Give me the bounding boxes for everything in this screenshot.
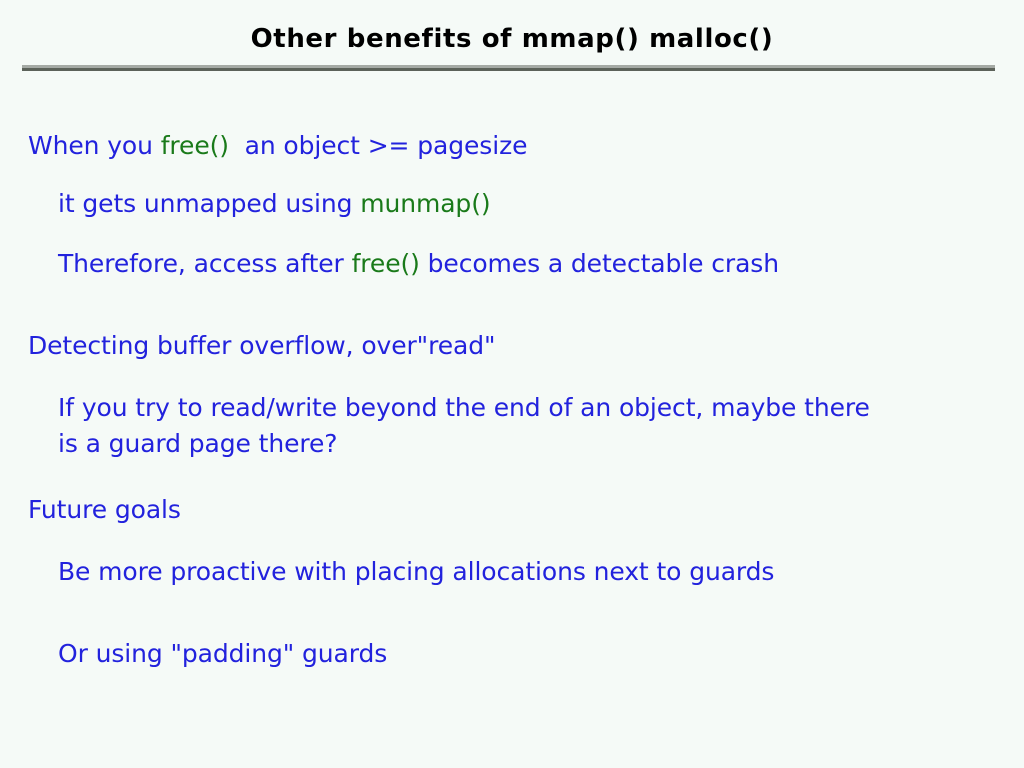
- bullet-after-free-text-1: Therefore, access after: [58, 249, 352, 278]
- bullet-detecting-overflow: Detecting buffer overflow, over"read": [28, 328, 495, 364]
- bullet-read-write-beyond: If you try to read/write beyond the end …: [58, 390, 878, 462]
- bullet-after-free-text-2: becomes a detectable crash: [420, 249, 779, 278]
- bullet-free-object: When you free() an object >= pagesize: [28, 128, 527, 164]
- title-divider: [22, 65, 995, 71]
- title-divider-shadow: [22, 68, 995, 71]
- code-free-call: free(): [161, 131, 229, 160]
- code-munmap-call: munmap(): [360, 189, 490, 218]
- bullet-future-goals: Future goals: [28, 492, 181, 528]
- bullet-after-free: Therefore, access after free() becomes a…: [58, 246, 779, 282]
- code-free-call-2: free(): [352, 249, 420, 278]
- slide-body: When you free() an object >= pagesize it…: [0, 108, 1024, 738]
- bullet-unmapped: it gets unmapped using munmap(): [58, 186, 491, 222]
- bullet-unmapped-text-1: it gets unmapped using: [58, 189, 360, 218]
- page-title: Other benefits of mmap() malloc(): [251, 24, 774, 54]
- bullet-proactive-placement: Be more proactive with placing allocatio…: [58, 554, 774, 590]
- bullet-padding-guards: Or using "padding" guards: [58, 636, 387, 672]
- slide-canvas: Other benefits of mmap() malloc() When y…: [0, 0, 1024, 768]
- bullet-free-object-text-2: an object >= pagesize: [229, 131, 527, 160]
- bullet-free-object-text-1: When you: [28, 131, 161, 160]
- slide-title-block: Other benefits of mmap() malloc(): [0, 24, 1024, 54]
